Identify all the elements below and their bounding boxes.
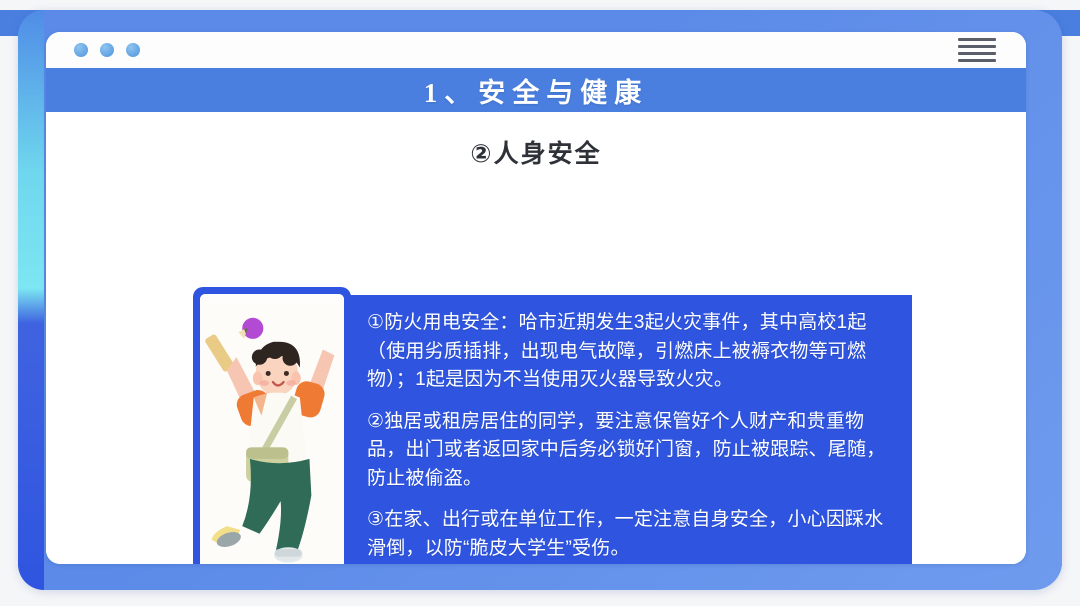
hamburger-line-4 bbox=[958, 59, 996, 62]
hamburger-menu-icon[interactable] bbox=[958, 38, 996, 62]
window-controls bbox=[74, 43, 140, 57]
section-subtitle: ②人身安全 bbox=[46, 134, 1026, 170]
header-bar: 1、安全与健康 bbox=[46, 68, 1026, 112]
jumping-student-illustration bbox=[200, 294, 344, 564]
hamburger-line-1 bbox=[958, 38, 996, 41]
frame-left-gradient-edge bbox=[18, 10, 44, 590]
browser-window: 1、安全与健康 ②人身安全 bbox=[46, 32, 1026, 564]
text-panel: ①防火用电安全：哈市近期发生3起火灾事件，其中高校1起（使用劣质插排，出现电气故… bbox=[345, 295, 912, 564]
illustration-card bbox=[193, 287, 351, 564]
paragraph-2: ②独居或租房居住的同学，要注意保管好个人财产和贵重物品，出门或者返回家中后务必锁… bbox=[367, 408, 896, 494]
window-dot-2-icon[interactable] bbox=[100, 43, 114, 57]
window-dot-1-icon[interactable] bbox=[74, 43, 88, 57]
hamburger-line-3 bbox=[958, 52, 996, 55]
paragraph-1: ①防火用电安全：哈市近期发生3起火灾事件，其中高校1起（使用劣质插排，出现电气故… bbox=[367, 309, 896, 395]
slide-canvas: 1、安全与健康 ②人身安全 bbox=[0, 0, 1080, 606]
page-title: 1、安全与健康 bbox=[424, 71, 649, 110]
window-dot-3-icon[interactable] bbox=[126, 43, 140, 57]
window-titlebar bbox=[46, 32, 1026, 68]
slide-content: ②人身安全 bbox=[46, 134, 1026, 564]
content-row: ①防火用电安全：哈市近期发生3起火灾事件，其中高校1起（使用劣质插排，出现电气故… bbox=[193, 287, 912, 564]
hamburger-line-2 bbox=[958, 45, 996, 48]
paragraph-3: ③在家、出行或在单位工作，一定注意自身安全，小心因踩水滑倒，以防“脆皮大学生”受… bbox=[367, 506, 896, 563]
illustration-frame bbox=[200, 294, 344, 564]
